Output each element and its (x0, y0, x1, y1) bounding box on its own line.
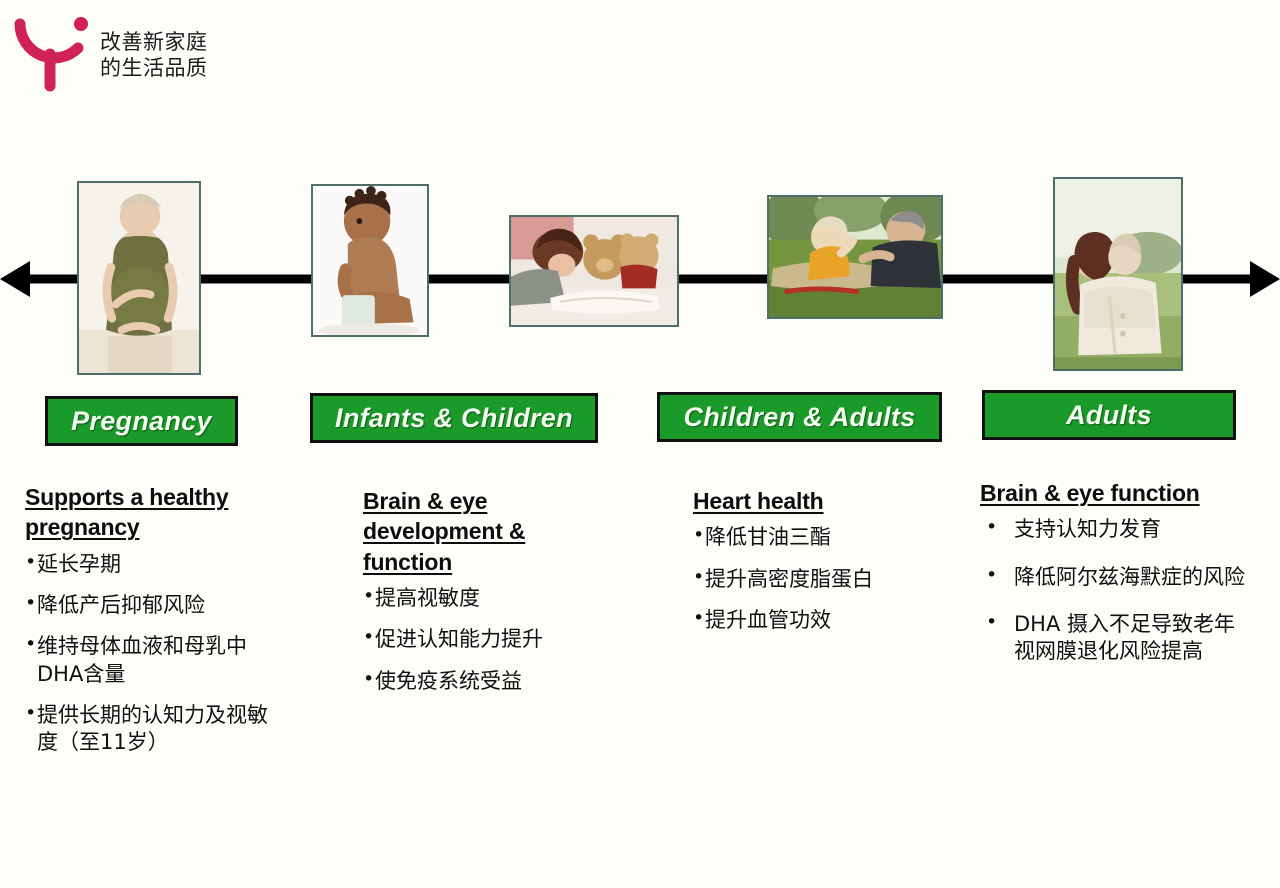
stage-label-text: Children & Adults (683, 402, 915, 433)
column-heading-line-1: Heart health (693, 488, 824, 514)
pregnant-woman-photo (77, 181, 201, 375)
list-item: 延长孕期 (25, 551, 287, 578)
list-item: 维持母体血液和母乳中DHA含量 (25, 633, 287, 688)
child-and-adult-photo (767, 195, 943, 319)
infant-photo (311, 184, 429, 337)
benefits-list: 支持认知力发育 降低阿尔兹海默症的风险 DHA 摄入不足导致老年视网膜退化风险提… (980, 516, 1252, 665)
stage-label-pregnancy[interactable]: Pregnancy (45, 396, 238, 446)
brand-tagline: 改善新家庭 的生活品质 (100, 30, 208, 81)
column-heading: Brain & eye function (980, 478, 1252, 508)
list-item: 提供长期的认知力及视敏度（至11岁） (25, 702, 287, 757)
stage-label-text: Pregnancy (71, 406, 212, 437)
column-heading-line-1: Brain & eye function (980, 480, 1200, 506)
adults-photo (1053, 177, 1183, 371)
column-heading-line-3: function (363, 549, 452, 575)
list-item: 提升血管功效 (693, 607, 905, 634)
stage-label-adults[interactable]: Adults (982, 390, 1236, 440)
list-item: 降低产后抑郁风险 (25, 592, 287, 619)
stage-label-text: Infants & Children (335, 403, 573, 434)
column-heading: Supports a healthy pregnancy (25, 482, 287, 543)
stage-label-infants-children[interactable]: Infants & Children (310, 393, 598, 443)
benefits-column-children-adults: Heart health 降低甘油三酯 提升高密度脂蛋白 提升血管功效 (693, 486, 905, 648)
list-item: 降低甘油三酯 (693, 524, 905, 551)
child-reading-photo (509, 215, 679, 327)
benefits-column-infants-children: Brain & eye development & function 提高视敏度… (363, 486, 595, 709)
benefits-list: 提高视敏度 促进认知能力提升 使免疫系统受益 (363, 585, 595, 695)
list-item: 提高视敏度 (363, 585, 595, 612)
brand-header: 改善新家庭 的生活品质 (8, 8, 328, 100)
list-item: 提升高密度脂蛋白 (693, 566, 905, 593)
column-heading-line-1: Brain & eye (363, 488, 487, 514)
list-item: 使免疫系统受益 (363, 668, 595, 695)
column-heading-line-2: pregnancy (25, 514, 140, 540)
stage-label-text: Adults (1066, 400, 1152, 431)
benefits-column-pregnancy: Supports a healthy pregnancy 延长孕期 降低产后抑郁… (25, 482, 287, 771)
list-item: 支持认知力发育 (980, 516, 1252, 543)
column-heading-line-2: development & (363, 518, 525, 544)
benefits-column-adults: Brain & eye function 支持认知力发育 降低阿尔兹海默症的风险… (980, 478, 1252, 686)
list-item: DHA 摄入不足导致老年视网膜退化风险提高 (980, 611, 1252, 666)
brand-tagline-line-1: 改善新家庭 (100, 30, 208, 56)
slide-canvas: 改善新家庭 的生活品质 (0, 0, 1280, 888)
column-heading: Heart health (693, 486, 905, 516)
brand-tagline-line-2: 的生活品质 (100, 56, 208, 82)
list-item: 促进认知能力提升 (363, 626, 595, 653)
list-item: 降低阿尔兹海默症的风险 (980, 564, 1252, 591)
column-heading-line-1: Supports a healthy (25, 484, 228, 510)
benefits-list: 降低甘油三酯 提升高密度脂蛋白 提升血管功效 (693, 524, 905, 634)
stage-label-children-adults[interactable]: Children & Adults (657, 392, 942, 442)
benefits-list: 延长孕期 降低产后抑郁风险 维持母体血液和母乳中DHA含量 提供长期的认知力及视… (25, 551, 287, 757)
stylized-y-person-logo-icon (8, 8, 94, 92)
column-heading: Brain & eye development & function (363, 486, 595, 577)
